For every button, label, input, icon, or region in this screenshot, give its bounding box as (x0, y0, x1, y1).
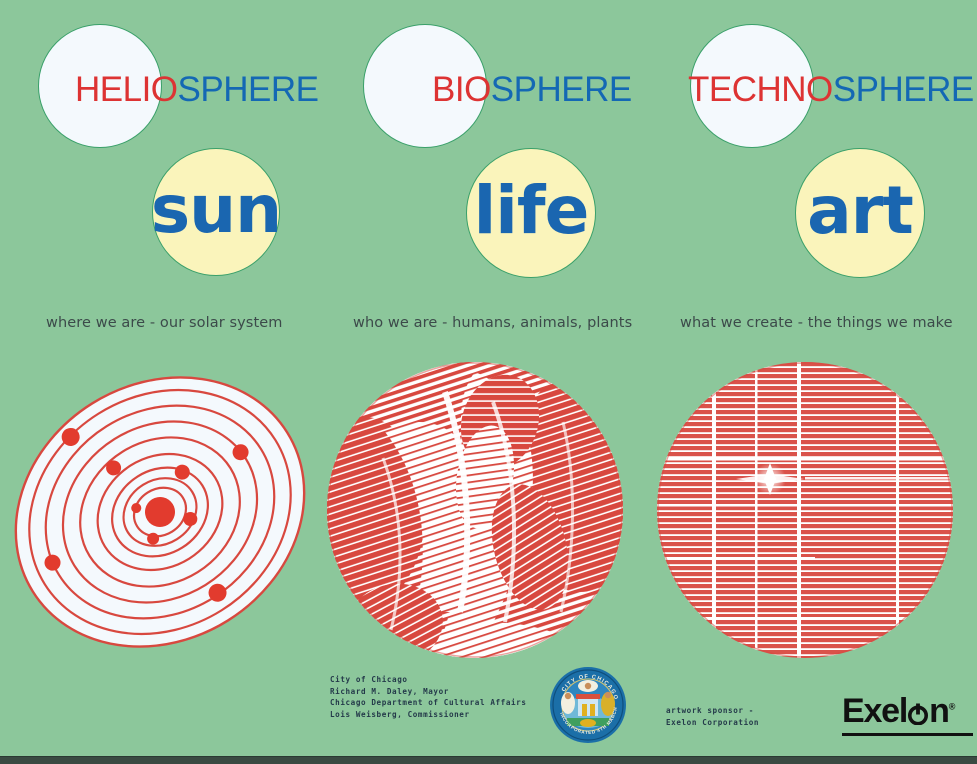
technosphere-svg (655, 362, 955, 658)
biosphere-svg (325, 362, 625, 658)
exelon-wordmark: Exel n® (842, 694, 973, 728)
word-circle-sun: sun (152, 148, 280, 276)
word-circle-life: life (466, 148, 596, 278)
word-life: life (474, 178, 589, 244)
word-art: art (807, 178, 913, 244)
technosphere-scanline-illustration (655, 362, 955, 658)
title-heliosphere-suffix: SPHERE (178, 70, 319, 109)
sponsor-line-1: artwork sponsor - (666, 705, 759, 717)
title-heliosphere: HELIOSPHERE (75, 72, 318, 107)
credit-line-2: Richard M. Daley, Mayor (330, 686, 527, 698)
exelon-word-part-b: n (929, 692, 949, 730)
word-sun: sun (151, 177, 281, 243)
sponsor-block: artwork sponsor - Exelon Corporation (666, 705, 759, 728)
word-circle-art: art (795, 148, 925, 278)
credit-line-4: Lois Weisberg, Commissioner (330, 709, 527, 721)
poster-root: HELIOSPHERE BIOSPHERE TECHNOSPHERE sun l… (0, 0, 977, 764)
registered-mark-icon: ® (949, 702, 954, 712)
title-technosphere: TECHNOSPHERE (688, 72, 974, 107)
poster-canvas: HELIOSPHERE BIOSPHERE TECHNOSPHERE sun l… (0, 0, 977, 756)
solar-system-svg (8, 360, 318, 660)
title-heliosphere-prefix: HELIO (75, 70, 178, 109)
title-biosphere-suffix: SPHERE (491, 70, 632, 109)
bottom-bar (0, 756, 977, 764)
city-of-chicago-seal: CITY OF CHICAGO INCORPORATED 4TH MARCH 1… (549, 666, 627, 744)
caption-technosphere: what we create - the things we make (680, 315, 953, 331)
credit-line-3: Chicago Department of Cultural Affairs (330, 697, 527, 709)
title-biosphere-prefix: BIO (432, 70, 491, 109)
sponsor-line-2: Exelon Corporation (666, 717, 759, 729)
title-technosphere-suffix: SPHERE (833, 70, 974, 109)
caption-heliosphere: where we are - our solar system (46, 315, 283, 331)
power-symbol-icon (907, 703, 929, 725)
exelon-power-icon (907, 697, 929, 719)
biosphere-halftone-illustration (325, 362, 625, 658)
title-technosphere-prefix: TECHNO (688, 70, 833, 109)
exelon-word-part-a: Exel (842, 692, 907, 730)
exelon-underline (842, 733, 973, 736)
city-of-chicago-seal-svg: CITY OF CHICAGO INCORPORATED 4TH MARCH 1… (549, 666, 627, 744)
credits-block: City of Chicago Richard M. Daley, Mayor … (330, 674, 527, 720)
credit-line-1: City of Chicago (330, 674, 527, 686)
solar-system-illustration (8, 360, 318, 660)
exelon-logo: Exel n® (842, 694, 973, 736)
caption-biosphere: who we are - humans, animals, plants (353, 315, 632, 331)
title-biosphere: BIOSPHERE (432, 72, 632, 107)
